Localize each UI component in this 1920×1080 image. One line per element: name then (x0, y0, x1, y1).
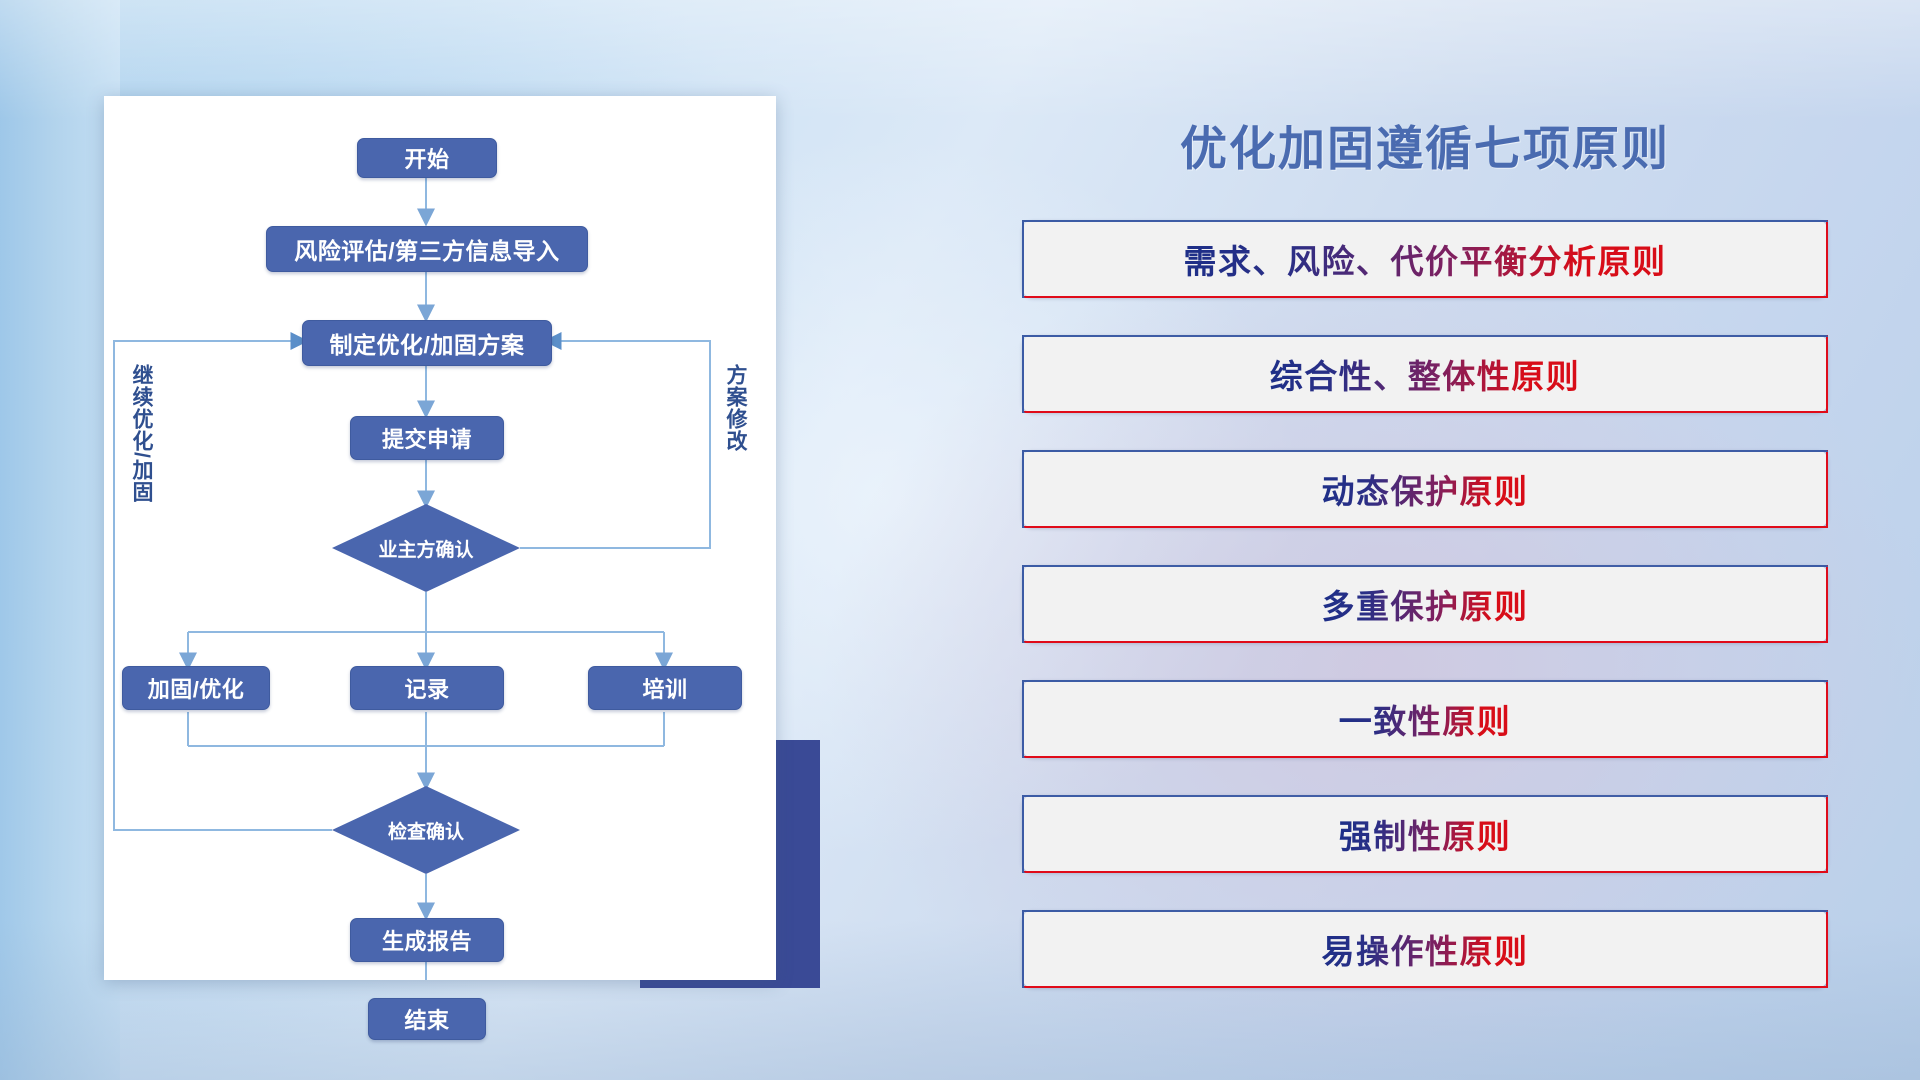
background-left-band (0, 0, 120, 1080)
principle-label: 一致性原则 (1339, 695, 1512, 743)
principles-panel: 优化加固遵循七项原则 需求、风险、代价平衡分析原则 综合性、整体性原则 动态保护… (1010, 90, 1840, 1020)
flow-node-label: 风险评估/第三方信息导入 (294, 232, 559, 266)
flow-node-start[interactable]: 开始 (357, 138, 497, 178)
flow-node-label: 记录 (404, 672, 449, 704)
principles-list: 需求、风险、代价平衡分析原则 综合性、整体性原则 动态保护原则 多重保护原则 一… (1022, 220, 1828, 1025)
flow-node-risk-assessment[interactable]: 风险评估/第三方信息导入 (266, 226, 588, 272)
principle-item[interactable]: 动态保护原则 (1022, 450, 1828, 528)
flow-node-check-confirm[interactable]: 检查确认 (332, 786, 520, 874)
flow-node-label: 业主方确认 (378, 535, 473, 562)
flow-node-label: 培训 (642, 672, 687, 704)
flow-node-end[interactable]: 结束 (368, 998, 486, 1040)
flowchart-card: 开始 风险评估/第三方信息导入 制定优化/加固方案 提交申请 业主方确认 加固/… (104, 96, 776, 980)
flow-node-label: 结束 (404, 1003, 449, 1035)
flow-node-label: 制定优化/加固方案 (330, 326, 525, 360)
principle-item[interactable]: 强制性原则 (1022, 795, 1828, 873)
edge-label-continue-optimize: 继续优化/加固 (130, 364, 152, 503)
flow-node-label: 开始 (404, 142, 449, 174)
principle-label: 强制性原则 (1339, 810, 1512, 858)
principle-item[interactable]: 易操作性原则 (1022, 910, 1828, 988)
flow-node-label: 生成报告 (382, 924, 472, 956)
flow-node-label: 提交申请 (382, 422, 472, 454)
edge-label-plan-revision: 方案修改 (724, 364, 746, 452)
flow-node-plan[interactable]: 制定优化/加固方案 (302, 320, 552, 366)
principle-label: 多重保护原则 (1322, 580, 1529, 628)
flow-node-reinforce[interactable]: 加固/优化 (122, 666, 270, 710)
flow-node-training[interactable]: 培训 (588, 666, 742, 710)
principle-label: 需求、风险、代价平衡分析原则 (1184, 235, 1667, 283)
panel-title: 优化加固遵循七项原则 (1010, 110, 1840, 179)
flow-node-label: 检查确认 (388, 817, 464, 844)
principle-item[interactable]: 需求、风险、代价平衡分析原则 (1022, 220, 1828, 298)
principle-label: 易操作性原则 (1322, 925, 1529, 973)
flow-node-submit-application[interactable]: 提交申请 (350, 416, 504, 460)
flow-node-record[interactable]: 记录 (350, 666, 504, 710)
flow-node-owner-confirm[interactable]: 业主方确认 (332, 504, 520, 592)
principle-label: 动态保护原则 (1322, 465, 1529, 513)
principle-item[interactable]: 综合性、整体性原则 (1022, 335, 1828, 413)
principle-label: 综合性、整体性原则 (1270, 350, 1581, 398)
principle-item[interactable]: 一致性原则 (1022, 680, 1828, 758)
flow-node-generate-report[interactable]: 生成报告 (350, 918, 504, 962)
principle-item[interactable]: 多重保护原则 (1022, 565, 1828, 643)
flow-node-label: 加固/优化 (148, 672, 245, 704)
